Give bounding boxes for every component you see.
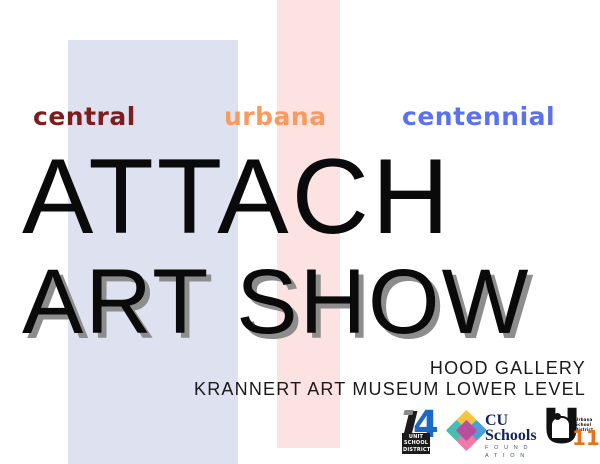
unit-4-school-district-logo: 4 UNIT SCHOOL DISTRICT — [398, 409, 444, 457]
poster-title-line-1: ATTACH — [22, 142, 452, 250]
cu-schools-foundation-logo: CU Schools F O U N D A T I O N — [450, 410, 536, 456]
urbana-116-logo: U Urbana School District 116 — [542, 409, 598, 457]
student-figure-icon — [550, 416, 571, 440]
school-name-centennial: centennial — [402, 100, 555, 134]
cu-schools-line-1: CU — [485, 413, 537, 428]
venue-block: HOOD GALLERY KRANNERT ART MUSEUM LOWER L… — [194, 358, 586, 400]
venue-gallery-name: HOOD GALLERY — [194, 358, 586, 379]
venue-location: KRANNERT ART MUSEUM LOWER LEVEL — [194, 379, 586, 400]
cu-schools-line-2: Schools — [485, 428, 537, 444]
cu-schools-line-3: F O U N D A T I O N — [485, 444, 537, 460]
pinwheel-star-icon — [450, 414, 484, 448]
school-name-central: central — [33, 100, 136, 134]
cu-schools-wordmark: CU Schools F O U N D A T I O N — [485, 413, 537, 460]
school-name-urbana: urbana — [224, 100, 327, 134]
student-head-icon — [554, 413, 561, 420]
u116-number: 116 — [572, 428, 600, 448]
school-names-row: central urbana centennial — [0, 100, 600, 134]
art-show-poster: central urbana centennial ATTACH ART SHO… — [0, 0, 600, 464]
unit-4-wordmark: UNIT SCHOOL DISTRICT — [402, 433, 430, 454]
poster-title-line-2: ART SHOW — [22, 254, 530, 350]
sponsor-logos-row: 4 UNIT SCHOOL DISTRICT CU Schools F O U … — [398, 408, 590, 458]
